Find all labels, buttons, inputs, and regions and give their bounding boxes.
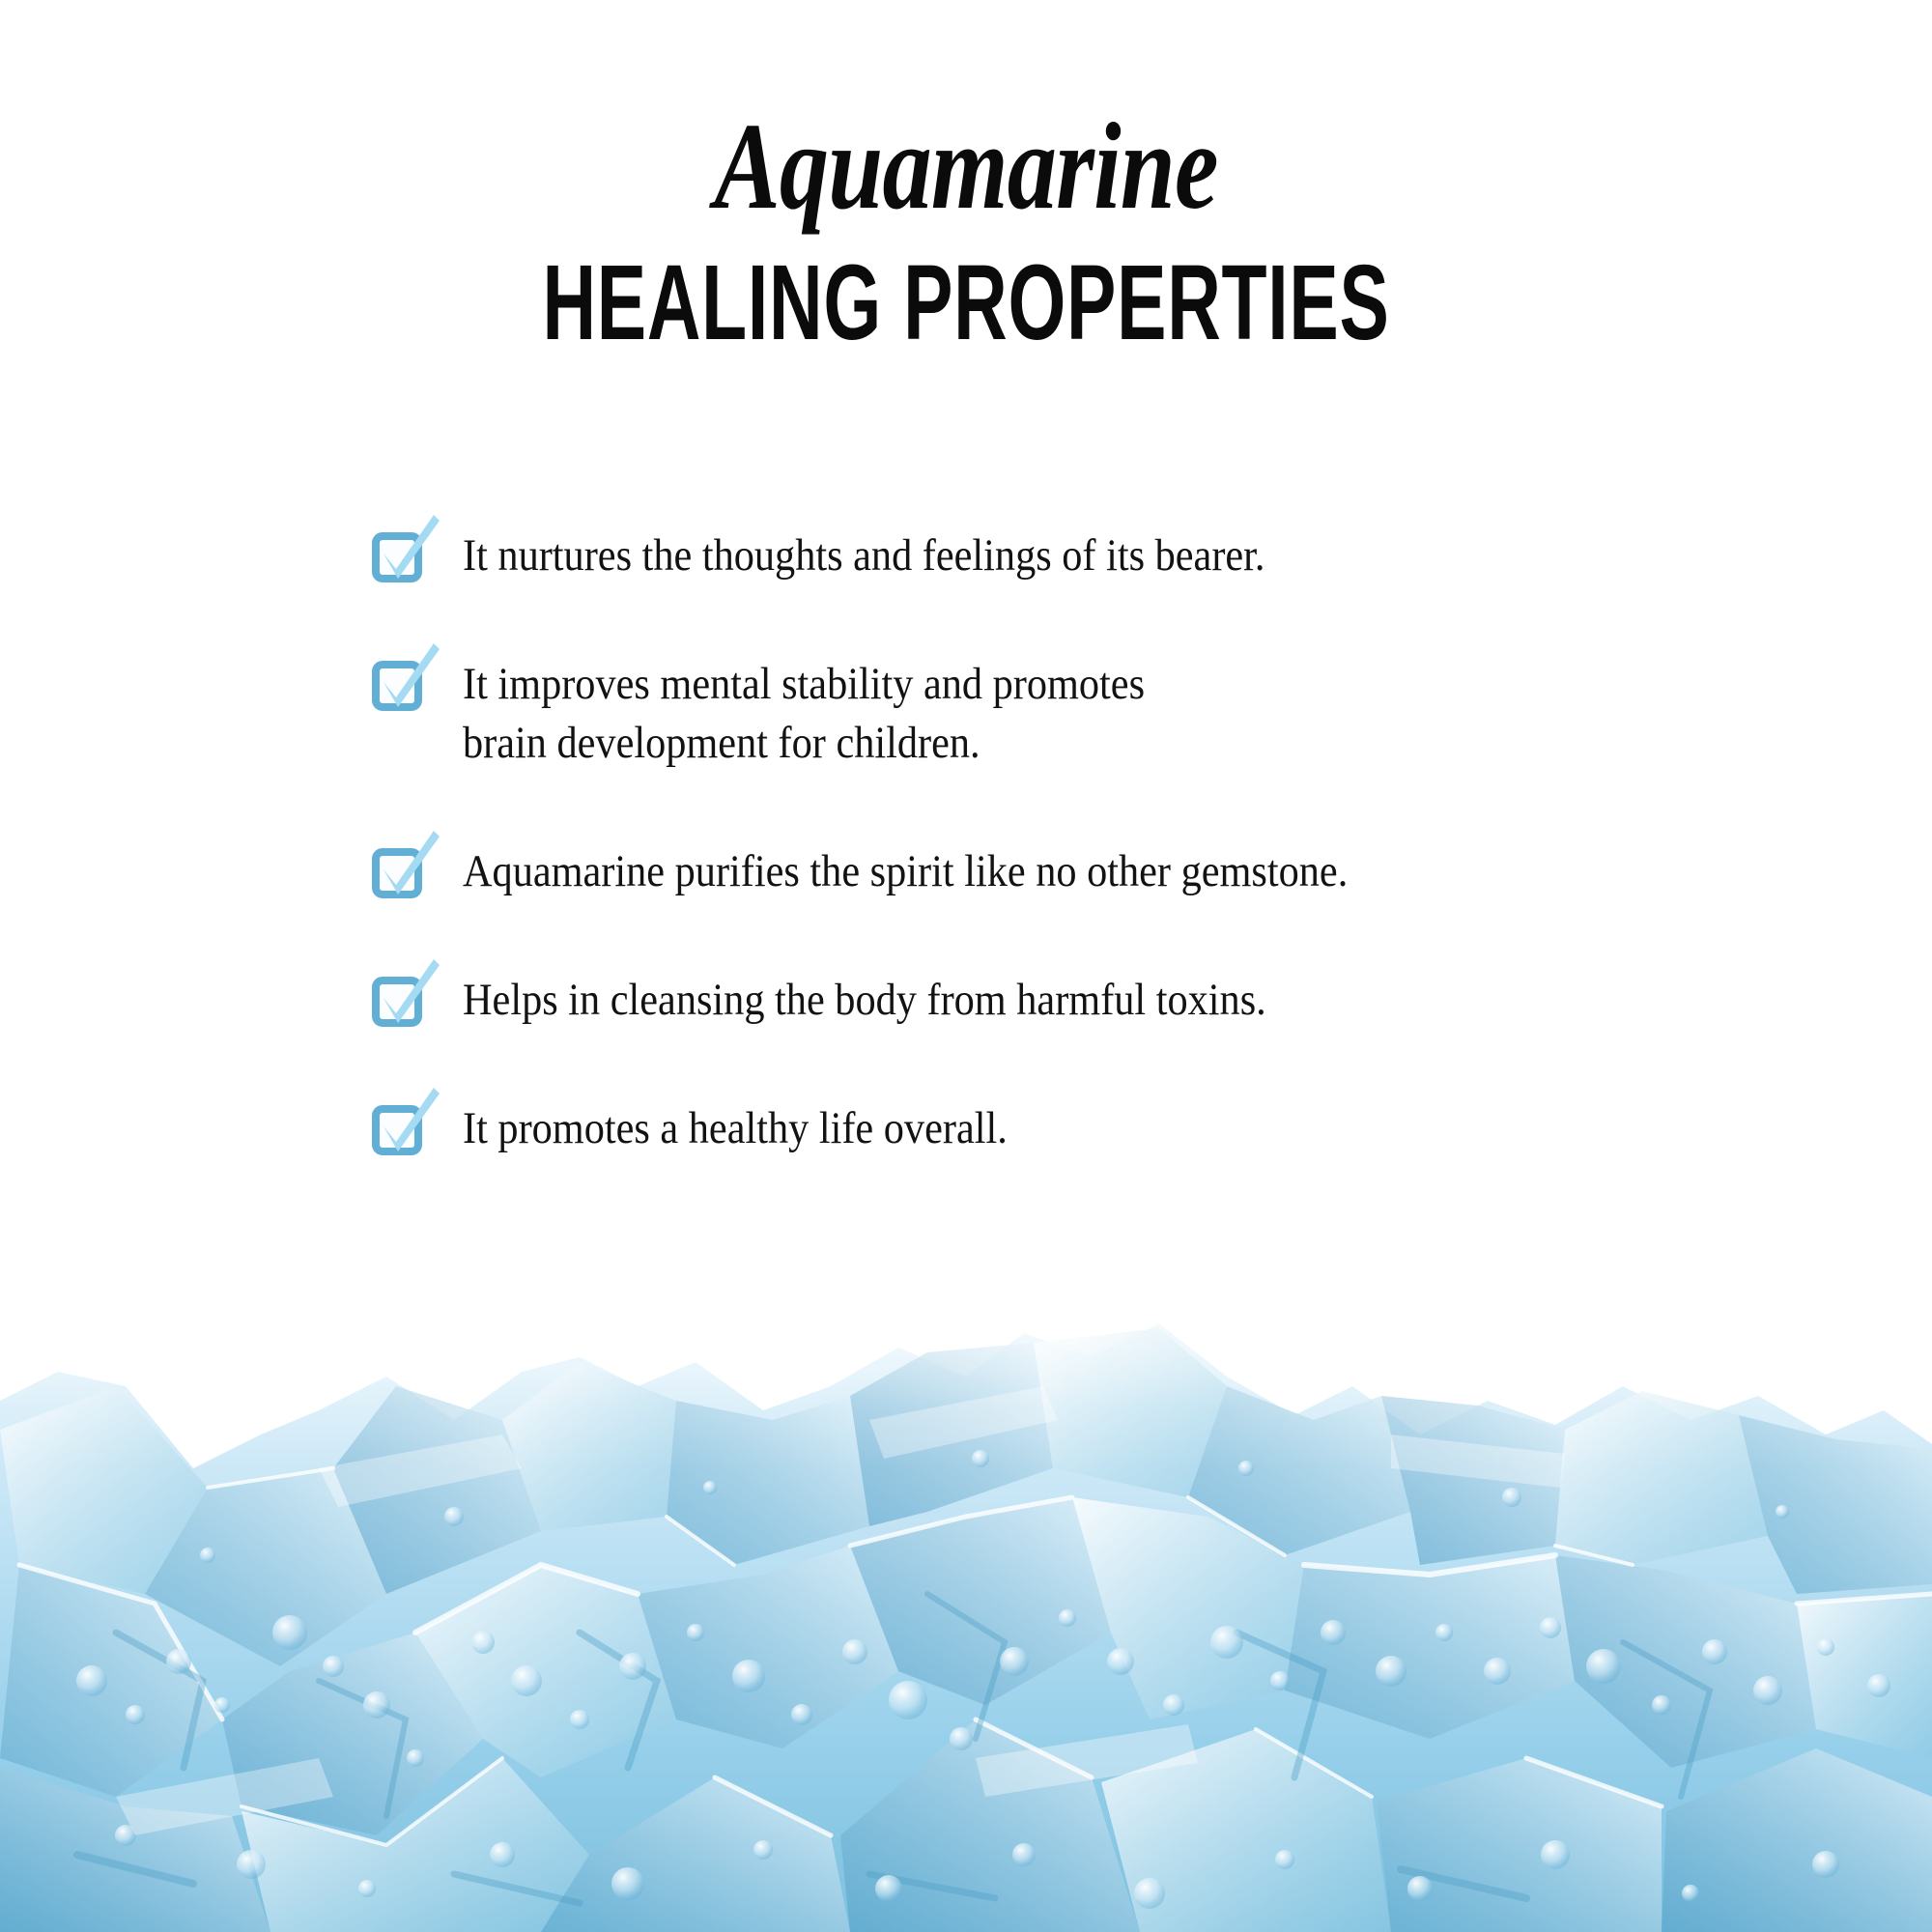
checkmark-glyph [370,1092,441,1161]
list-item-label: Helps in cleansing the body from harmful… [463,971,1266,1030]
list-item-label: It promotes a healthy life overall. [463,1099,1008,1158]
checkbox-checked-icon [372,532,422,582]
checkmark-glyph [370,519,441,588]
checkbox-checked-icon [372,1105,422,1155]
list-item: It nurtures the thoughts and feelings of… [372,526,1802,585]
poster-canvas: Aquamarine HEALING PROPERTIES It nurture… [0,0,1932,1932]
checkbox-checked-icon [372,977,422,1027]
ice-cubes-illustration [0,1179,1932,1932]
checkmark-glyph [370,835,441,904]
page-title: Aquamarine [193,104,1739,228]
page-title-block: Aquamarine HEALING PROPERTIES [0,104,1932,354]
list-item: Helps in cleansing the body from harmful… [372,971,1802,1030]
list-item: It promotes a healthy life overall. [372,1099,1802,1158]
healing-properties-list: It nurtures the thoughts and feelings of… [372,526,1802,1159]
list-item: It improves mental stability and promote… [372,655,1802,773]
ice-cubes-photo [0,1179,1932,1932]
checkmark-glyph [370,647,441,717]
checkbox-checked-icon [372,661,422,711]
checkmark-glyph [370,963,441,1033]
list-item-label: It improves mental stability and promote… [463,655,1145,773]
checkbox-checked-icon [372,848,422,898]
list-item-label: It nurtures the thoughts and feelings of… [463,526,1265,585]
page-subtitle: HEALING PROPERTIES [251,250,1681,356]
list-item-label: Aquamarine purifies the spirit like no o… [463,842,1348,901]
list-item: Aquamarine purifies the spirit like no o… [372,842,1802,901]
